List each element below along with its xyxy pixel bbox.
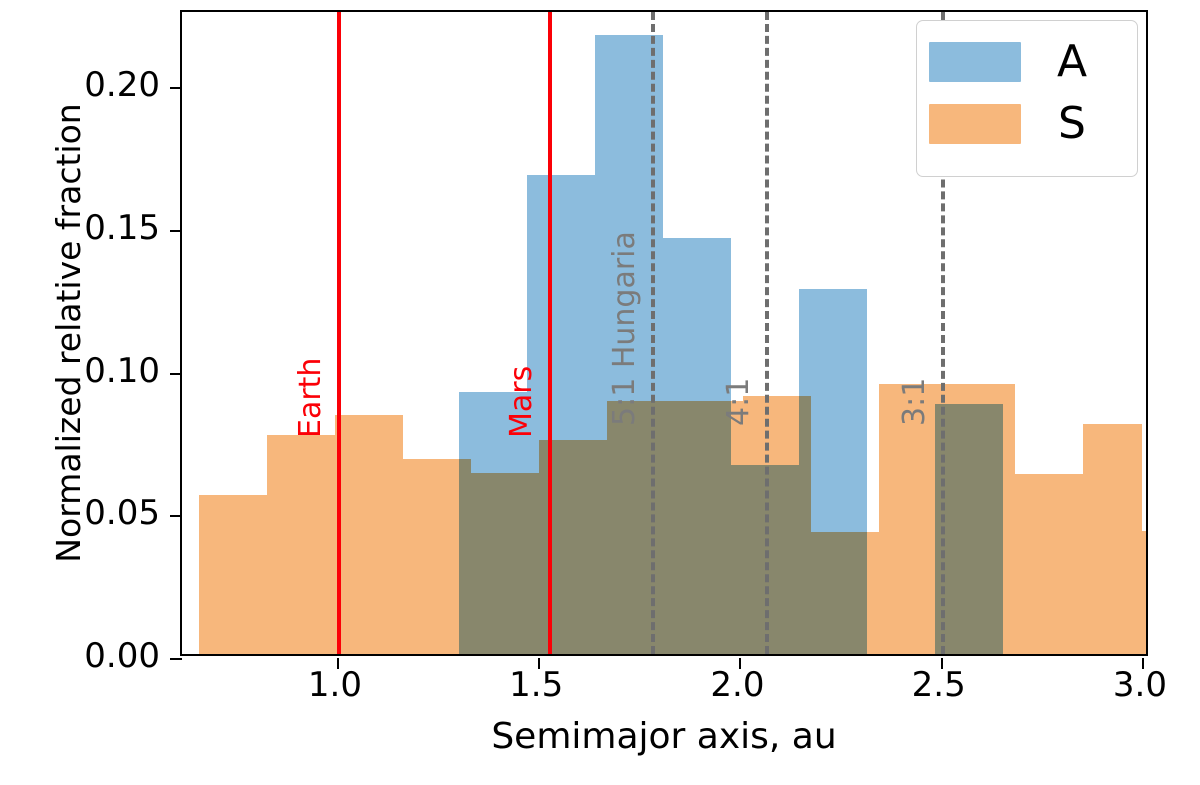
y-tick-label-2: 0.10 [14,354,160,388]
legend-label-s: S [1021,102,1123,146]
bar-s-2 [335,415,403,654]
marker-line-mars [548,12,552,654]
bar-s-0 [199,495,267,654]
marker-label-3-1: 3:1 [897,378,933,426]
plot-area: EarthMars5:1 Hungaria4:13:1 A S [180,10,1148,656]
bar-s-14 [1142,531,1146,654]
marker-line-5-1-hungaria [651,12,655,654]
marker-label-4-1: 4:1 [721,378,757,426]
legend-box[interactable]: A S [916,20,1138,177]
chart-root: Normalized relative fraction 0.000.050.1… [0,0,1200,785]
y-tick-0 [170,658,182,660]
marker-label-mars: Mars [504,366,540,438]
legend-item-s: S [929,93,1123,155]
bar-s-4 [471,473,539,654]
bar-s-9 [811,532,879,654]
bar-s-13 [1083,424,1142,654]
y-axis-title: Normalized relative fraction [46,10,92,656]
marker-label-5-1-hungaria: 5:1 Hungaria [607,231,643,426]
bar-s-8 [743,396,811,654]
y-tick-1 [170,515,182,517]
bar-s-6 [607,401,675,654]
legend-swatch-s [929,104,1021,144]
marker-line-earth [337,12,341,654]
x-tick-label-4: 3.0 [1080,668,1200,702]
bar-s-7 [675,401,743,654]
legend-item-a: A [929,31,1123,93]
marker-line-4-1 [765,12,769,654]
x-tick-label-1: 1.5 [476,668,596,702]
y-tick-2 [170,373,182,375]
x-axis-title: Semimajor axis, au [180,716,1148,757]
x-tick-label-0: 1.0 [275,668,395,702]
bar-s-12 [1015,474,1083,654]
y-tick-3 [170,230,182,232]
bar-s-11 [947,384,1015,654]
legend-label-a: A [1021,40,1123,84]
bar-s-3 [403,459,471,654]
legend-swatch-a [929,42,1021,82]
y-tick-label-4: 0.20 [14,68,160,102]
x-tick-label-3: 2.5 [879,668,999,702]
bar-s-1 [267,435,335,654]
y-tick-label-0: 0.00 [14,639,160,673]
marker-label-earth: Earth [293,358,329,438]
y-tick-label-3: 0.15 [14,211,160,245]
y-tick-label-1: 0.05 [14,496,160,530]
x-tick-label-2: 2.0 [677,668,797,702]
y-tick-4 [170,87,182,89]
